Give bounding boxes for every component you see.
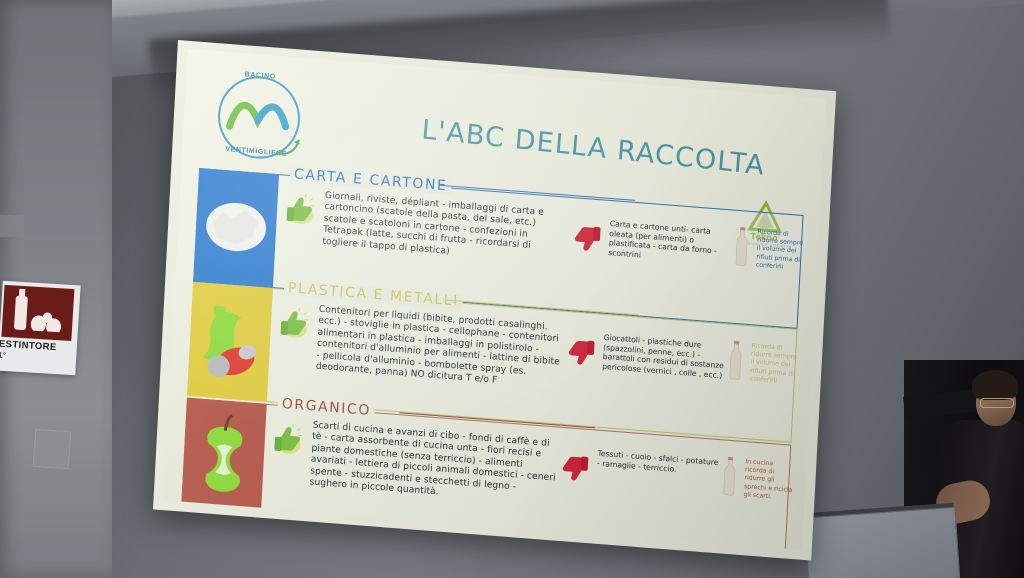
tip-text: In cucina ricorda di ridurre gli sprechi… — [743, 458, 795, 503]
thumbs-up-icon — [271, 423, 303, 455]
thumbs-down-icon — [566, 336, 598, 368]
fire-extinguisher-sign: ESTINTORE 1° — [0, 281, 81, 376]
thumbs-up-icon — [283, 194, 315, 226]
fire-extinguisher-icon — [14, 296, 28, 331]
rejected-text: Tessuti - cuoio - sfalci - potature - ra… — [597, 449, 724, 478]
glasses-icon — [980, 398, 1014, 408]
apple-core-icon — [181, 398, 266, 510]
rejected-column: Giocattoli - plastiche dure (spazzolini,… — [568, 330, 728, 342]
accepted-text: Scarti di cucina e avanzi di cibo - fond… — [309, 421, 558, 508]
crumpled-paper-icon — [193, 168, 279, 288]
thumbs-down-icon — [572, 222, 604, 254]
wall-plate — [33, 429, 72, 469]
bottle-icon — [719, 456, 739, 497]
plastic-bottle-and-can-icon — [187, 282, 273, 402]
tip-text: Ricorda di ridurre sempre il volume dei … — [756, 229, 808, 274]
wall-fixture — [0, 215, 24, 237]
tip-column: Ricorda di ridurre sempre il volume dei … — [734, 225, 804, 230]
section-heading: CARTA E CARTONE — [290, 166, 452, 195]
tip-text: Ricorda di ridurre sempre il volume dei … — [750, 342, 802, 387]
projection-screen: BACINO VENTIMIGLIESE — [153, 40, 836, 561]
person-hair — [972, 370, 1018, 400]
photo-scene: ESTINTORE 1° BACINO VENTIMIGLIESE — [0, 0, 1024, 578]
rejected-column: Carta e cartone unti- carta oleata (per … — [574, 216, 734, 228]
bottle-icon — [732, 227, 752, 268]
bottle-icon — [726, 340, 746, 381]
bacino-ventimigliese-logo: BACINO VENTIMIGLIESE — [210, 67, 307, 166]
rejected-text: Giocattoli - plastiche dure (spazzolini,… — [602, 333, 730, 381]
thumbs-down-icon — [560, 452, 592, 484]
rejected-text: Carta e cartone unti- carta oleata (per … — [608, 219, 736, 267]
projection-screen-wrap: BACINO VENTIMIGLIESE — [178, 40, 850, 568]
tip-column: Ricorda di ridurre sempre il volume dei … — [728, 338, 798, 343]
rejected-column: Tessuti - cuoio - sfalci - potature - ra… — [562, 446, 722, 458]
section-rule — [440, 185, 636, 201]
arrow-curl-icon — [274, 130, 303, 160]
slide-content: BACINO VENTIMIGLIESE — [163, 49, 825, 550]
tip-column: In cucina ricorda di ridurre gli sprechi… — [722, 454, 792, 459]
slide-title: L'ABC DELLA RACCOLTA — [420, 114, 766, 181]
accepted-text: Contenitori per liquidi (bibite, prodott… — [315, 305, 564, 392]
thumbs-up-icon — [277, 308, 309, 340]
accepted-text: Giornali, riviste, dépliant - imballaggi… — [322, 191, 570, 267]
sign-pictogram — [1, 285, 74, 341]
flame-icon — [28, 296, 64, 332]
